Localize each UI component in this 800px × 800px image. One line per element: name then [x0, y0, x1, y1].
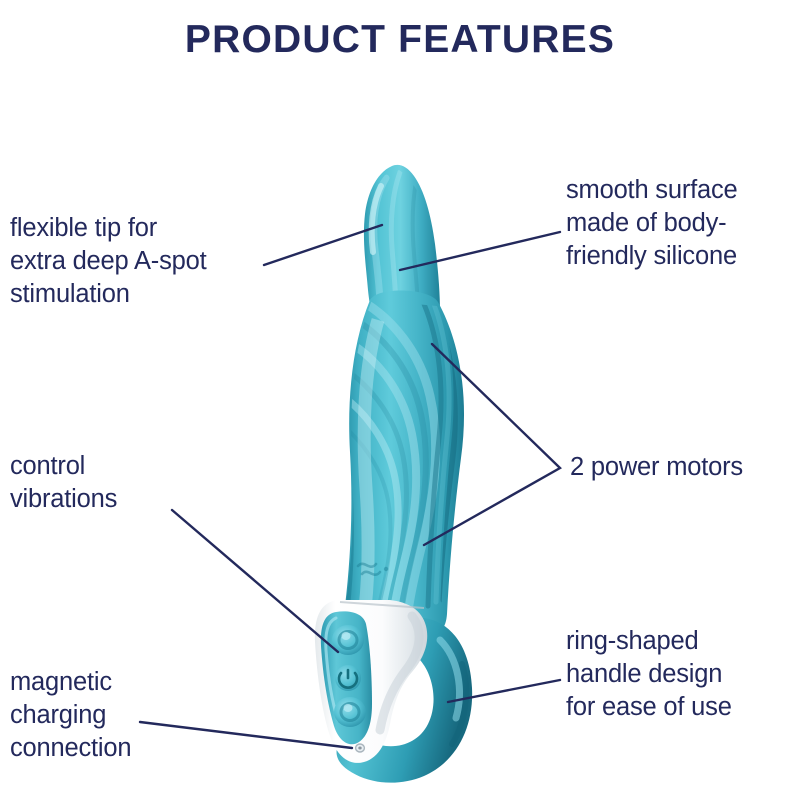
callout-control-vibrations: control vibrations: [10, 450, 117, 516]
callout-magnetic-charging-line-3: connection: [10, 732, 131, 765]
callout-ring-handle-line-2: handle design: [566, 658, 732, 691]
product-shaft: [341, 290, 464, 636]
magnetic-charging-port[interactable]: [356, 744, 365, 752]
callout-smooth-surface-line-2: made of body-: [566, 207, 738, 240]
intensity-down-button[interactable]: [334, 697, 366, 727]
callout-magnetic-charging: magnetic charging connection: [10, 666, 131, 765]
callout-smooth-surface-line-1: smooth surface: [566, 174, 738, 207]
callout-magnetic-charging-line-1: magnetic: [10, 666, 131, 699]
callout-flexible-tip: flexible tip for extra deep A-spot stimu…: [10, 212, 206, 311]
callout-power-motors-line-1: 2 power motors: [570, 451, 743, 484]
product-tip: [364, 165, 440, 312]
callout-smooth-surface-line-3: friendly silicone: [566, 240, 738, 273]
callout-smooth-surface: smooth surface made of body- friendly si…: [566, 174, 738, 273]
callout-control-vibrations-line-1: control: [10, 450, 117, 483]
callout-ring-handle: ring-shaped handle design for ease of us…: [566, 625, 732, 724]
callout-power-motors: 2 power motors: [570, 451, 743, 484]
callout-flexible-tip-line-2: extra deep A-spot: [10, 245, 206, 278]
callout-control-vibrations-line-2: vibrations: [10, 483, 117, 516]
product-features-infographic: PRODUCT FEATURES: [0, 0, 800, 800]
callout-flexible-tip-line-1: flexible tip for: [10, 212, 206, 245]
callout-flexible-tip-line-3: stimulation: [10, 278, 206, 311]
callout-ring-handle-line-3: for ease of use: [566, 691, 732, 724]
callout-ring-handle-line-1: ring-shaped: [566, 625, 732, 658]
callout-magnetic-charging-line-2: charging: [10, 699, 131, 732]
power-button[interactable]: [335, 665, 361, 691]
intensity-up-button[interactable]: [332, 625, 364, 655]
